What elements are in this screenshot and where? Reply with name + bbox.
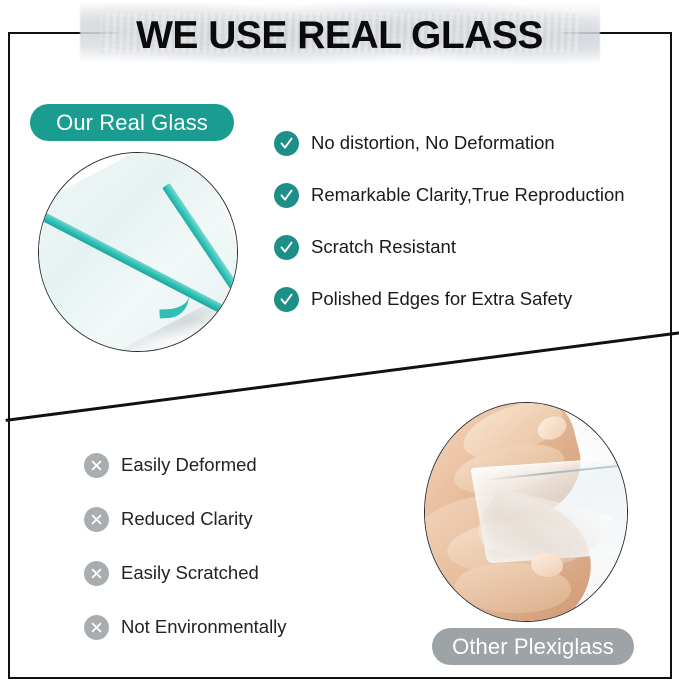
frame-bottom-edge (8, 677, 672, 679)
x-icon (84, 507, 109, 532)
badge-other-plexiglass-label: Other Plexiglass (452, 634, 614, 660)
x-icon (84, 453, 109, 478)
list-item: Reduced Clarity (84, 506, 287, 532)
x-icon (84, 615, 109, 640)
check-icon (274, 131, 299, 156)
frame-left-edge (8, 32, 10, 679)
x-icon (84, 561, 109, 586)
list-item-label: Easily Scratched (121, 562, 259, 584)
list-item-label: Polished Edges for Extra Safety (311, 288, 572, 310)
badge-our-real-glass-label: Our Real Glass (56, 110, 208, 136)
list-item: Easily Deformed (84, 452, 287, 478)
plexiglass-photo (424, 402, 628, 622)
list-item-label: Remarkable Clarity,True Reproduction (311, 184, 625, 206)
check-icon (274, 183, 299, 208)
check-icon (274, 287, 299, 312)
list-item: Easily Scratched (84, 560, 287, 586)
list-item: No distortion, No Deformation (274, 130, 625, 156)
list-item-label: Scratch Resistant (311, 236, 456, 258)
list-item-label: Reduced Clarity (121, 508, 253, 530)
cons-feature-list: Easily Deformed Reduced Clarity Easily S… (84, 452, 287, 668)
list-item-label: Easily Deformed (121, 454, 257, 476)
frame-right-edge (670, 32, 672, 679)
real-glass-photo (38, 152, 238, 352)
list-item-label: No distortion, No Deformation (311, 132, 555, 154)
pros-feature-list: No distortion, No Deformation Remarkable… (274, 130, 625, 338)
infographic-canvas: WE USE REAL GLASS Our Real Glass No dist… (0, 0, 679, 691)
list-item: Polished Edges for Extra Safety (274, 286, 625, 312)
badge-other-plexiglass: Other Plexiglass (432, 628, 634, 665)
check-icon (274, 235, 299, 260)
page-title: WE USE REAL GLASS (0, 15, 679, 57)
list-item-label: Not Environmentally (121, 616, 287, 638)
list-item: Not Environmentally (84, 614, 287, 640)
list-item: Remarkable Clarity,True Reproduction (274, 182, 625, 208)
list-item: Scratch Resistant (274, 234, 625, 260)
badge-our-real-glass: Our Real Glass (30, 104, 234, 141)
